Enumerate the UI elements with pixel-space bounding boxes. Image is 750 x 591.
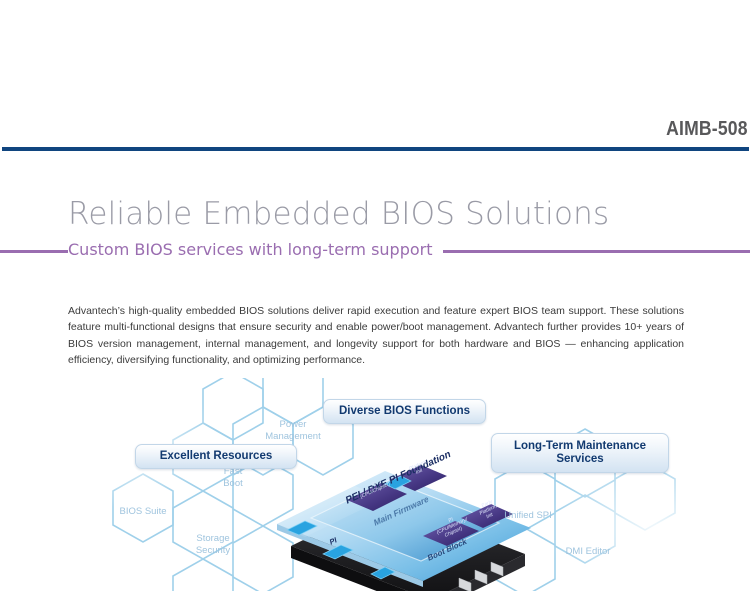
callout-excellent-resources[interactable]: Excellent Resources [135, 444, 297, 469]
page-title: Reliable Embedded BIOS Solutions [68, 196, 609, 232]
callout-long-term-maintenance-services[interactable]: Long-Term Maintenance Services [491, 433, 669, 473]
bios-solution-diagram: Power Management Fast Boot BIOS Suite St… [55, 378, 695, 591]
header-divider-rule [2, 147, 749, 151]
callout-diverse-bios-functions[interactable]: Diverse BIOS Functions [323, 399, 486, 424]
haze-overlay-2 [55, 378, 215, 508]
subtitle-row: Custom BIOS services with long-term supp… [0, 240, 750, 262]
page-subtitle: Custom BIOS services with long-term supp… [68, 240, 443, 259]
model-name: AIMB-508 [666, 118, 748, 141]
intro-paragraph: Advantech’s high-quality embedded BIOS s… [68, 303, 684, 369]
page-header: AIMB-508 [0, 0, 750, 152]
